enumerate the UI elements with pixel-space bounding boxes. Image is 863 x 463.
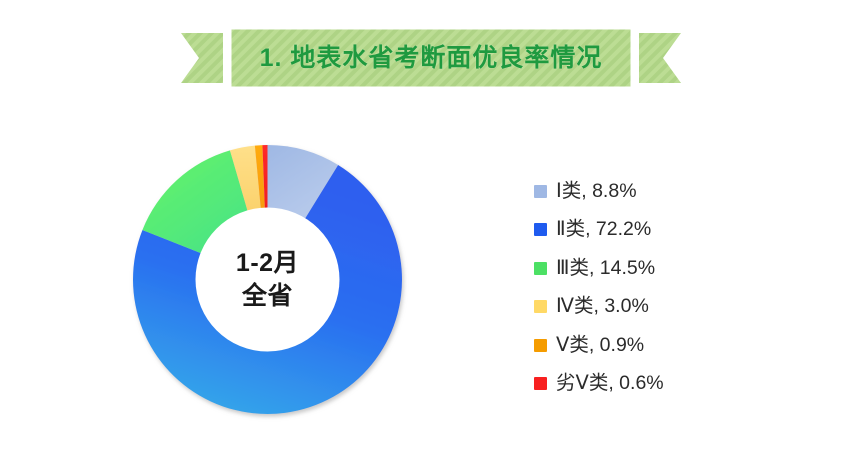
legend-item-label: Ⅴ类, 0.9% <box>556 336 644 356</box>
donut-hole <box>196 208 340 352</box>
legend-swatch-icon <box>534 185 547 198</box>
legend-item[interactable]: Ⅳ类, 3.0% <box>534 288 764 327</box>
legend-item-label: Ⅰ类, 8.8% <box>556 182 637 202</box>
legend-item-label: Ⅲ类, 14.5% <box>556 259 655 279</box>
title-ribbon: 1. 地表水省考断面优良率情况 <box>181 27 681 89</box>
legend-swatch-icon <box>534 262 547 275</box>
page-title: 1. 地表水省考断面优良率情况 <box>181 27 681 89</box>
legend-swatch-icon <box>534 300 547 313</box>
legend-item[interactable]: Ⅴ类, 0.9% <box>534 326 764 365</box>
chart-legend: Ⅰ类, 8.8% Ⅱ类, 72.2% Ⅲ类, 14.5% Ⅳ类, 3.0% Ⅴ类… <box>534 172 764 403</box>
legend-item-label: 劣Ⅴ类, 0.6% <box>556 374 664 394</box>
donut-chart: 1-2月 全省 <box>125 137 410 422</box>
legend-swatch-icon <box>534 223 547 236</box>
legend-item-label: Ⅱ类, 72.2% <box>556 220 651 240</box>
legend-item[interactable]: Ⅰ类, 8.8% <box>534 172 764 211</box>
slide-root: 1. 地表水省考断面优良率情况 <box>0 0 863 463</box>
legend-item[interactable]: Ⅲ类, 14.5% <box>534 249 764 288</box>
legend-item[interactable]: Ⅱ类, 72.2% <box>534 211 764 250</box>
legend-swatch-icon <box>534 339 547 352</box>
donut-chart-svg <box>125 137 410 422</box>
legend-swatch-icon <box>534 377 547 390</box>
legend-item[interactable]: 劣Ⅴ类, 0.6% <box>534 365 764 404</box>
legend-item-label: Ⅳ类, 3.0% <box>556 297 649 317</box>
